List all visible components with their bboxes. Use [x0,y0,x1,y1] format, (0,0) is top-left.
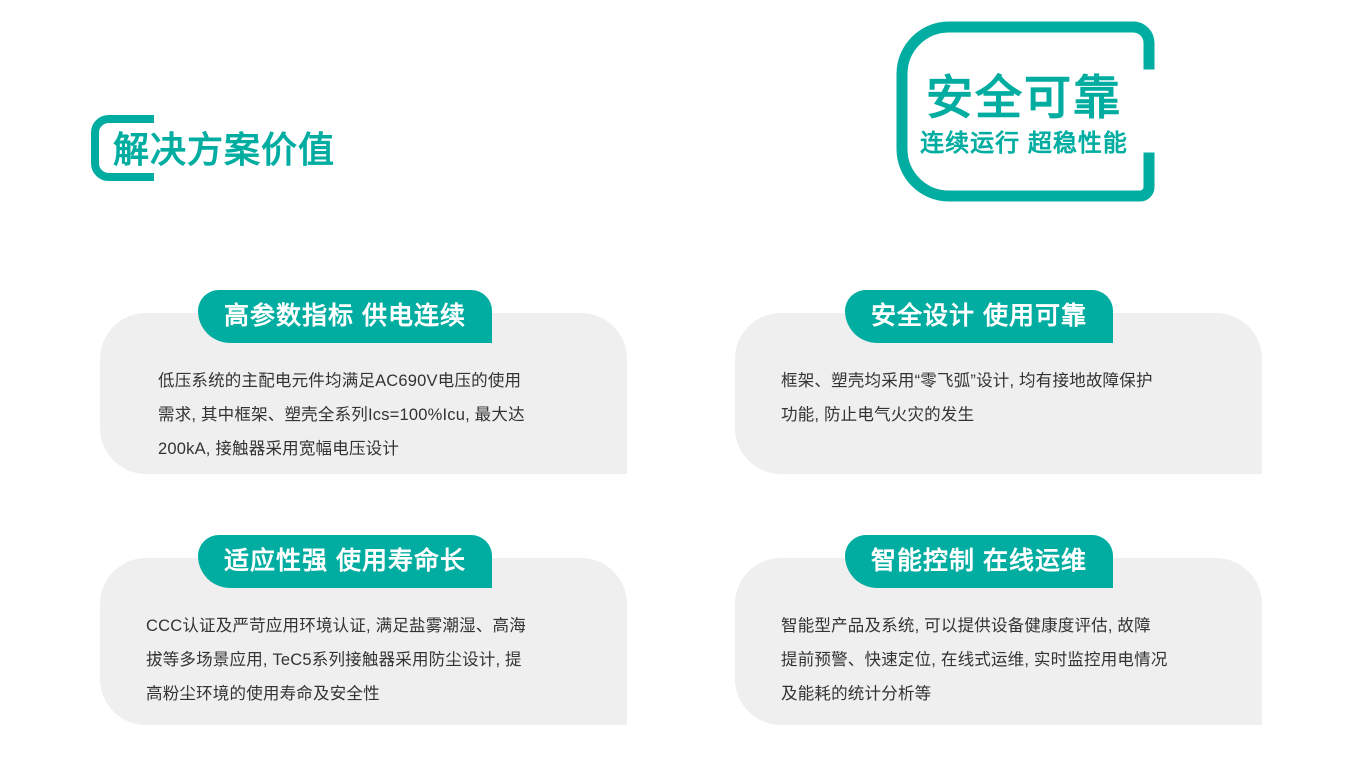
card-title-pill: 安全设计 使用可靠 [845,290,1113,343]
card-title-pill: 高参数指标 供电连续 [198,290,492,343]
card-body: 智能型产品及系统, 可以提供设备健康度评估, 故障 提前预警、快速定位, 在线式… [781,609,1221,711]
card-body: CCC认证及严苛应用环境认证, 满足盐雾潮湿、高海 拔等多场景应用, TeC5系… [146,609,586,711]
card-title: 智能控制 在线运维 [871,535,1087,588]
card-body-line: 及能耗的统计分析等 [781,677,1221,711]
card-title: 安全设计 使用可靠 [871,290,1087,343]
card-body-line: 功能, 防止电气火灾的发生 [781,398,1221,432]
card-body-line: 框架、塑壳均采用“零飞弧”设计, 均有接地故障保护 [781,364,1221,398]
card-body: 低压系统的主配电元件均满足AC690V电压的使用 需求, 其中框架、塑壳全系列I… [158,364,578,466]
card-title: 高参数指标 供电连续 [224,290,466,343]
feature-card: 高参数指标 供电连续 低压系统的主配电元件均满足AC690V电压的使用 需求, … [100,313,627,474]
feature-card: 安全设计 使用可靠 框架、塑壳均采用“零飞弧”设计, 均有接地故障保护 功能, … [735,313,1262,474]
card-title-pill: 适应性强 使用寿命长 [198,535,492,588]
card-body-line: 高粉尘环境的使用寿命及安全性 [146,677,586,711]
feature-cards-grid: 高参数指标 供电连续 低压系统的主配电元件均满足AC690V电压的使用 需求, … [0,0,1350,782]
card-body-line: 200kA, 接触器采用宽幅电压设计 [158,432,578,466]
card-body: 框架、塑壳均采用“零飞弧”设计, 均有接地故障保护 功能, 防止电气火灾的发生 [781,364,1221,432]
card-body-line: 低压系统的主配电元件均满足AC690V电压的使用 [158,364,578,398]
card-title-pill: 智能控制 在线运维 [845,535,1113,588]
feature-card: 智能控制 在线运维 智能型产品及系统, 可以提供设备健康度评估, 故障 提前预警… [735,558,1262,725]
feature-card: 适应性强 使用寿命长 CCC认证及严苛应用环境认证, 满足盐雾潮湿、高海 拔等多… [100,558,627,725]
card-title: 适应性强 使用寿命长 [224,535,466,588]
card-body-line: 提前预警、快速定位, 在线式运维, 实时监控用电情况 [781,643,1221,677]
card-body-line: 智能型产品及系统, 可以提供设备健康度评估, 故障 [781,609,1221,643]
card-body-line: CCC认证及严苛应用环境认证, 满足盐雾潮湿、高海 [146,609,586,643]
card-body-line: 拔等多场景应用, TeC5系列接触器采用防尘设计, 提 [146,643,586,677]
card-body-line: 需求, 其中框架、塑壳全系列Ics=100%Icu, 最大达 [158,398,578,432]
